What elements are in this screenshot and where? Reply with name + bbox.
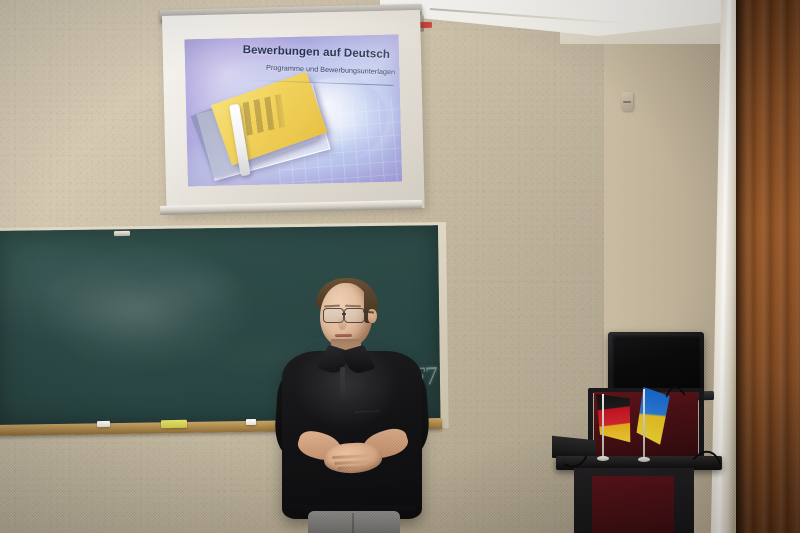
podium-front-panel (592, 476, 674, 533)
flag-pole (643, 389, 645, 459)
mouth (335, 334, 352, 337)
chalk-piece[interactable] (246, 419, 256, 425)
photograph-lecture-room: Bewerbungen auf Deutsch Programme und Be… (0, 0, 800, 533)
flag-base (638, 457, 650, 462)
shirt-placket (340, 367, 345, 405)
projected-slide: Bewerbungen auf Deutsch Programme und Be… (185, 34, 402, 186)
board-eraser-sponge[interactable] (161, 420, 187, 428)
nose (338, 316, 347, 330)
laptop-screen[interactable] (612, 335, 700, 390)
finger (334, 460, 370, 465)
projection-screen-surface: Bewerbungen auf Deutsch Programme und Be… (162, 10, 425, 214)
wall-sensor-slot (623, 101, 631, 103)
finger (337, 465, 367, 470)
screen-housing-label (419, 27, 441, 34)
podium-stand (556, 330, 732, 533)
flag-germany-cloth (595, 390, 635, 446)
chalk-piece[interactable] (97, 421, 110, 427)
finger (332, 454, 372, 459)
glasses-bridge (342, 313, 346, 315)
flag-germany (598, 392, 636, 462)
presenter (268, 283, 438, 533)
trousers (308, 511, 400, 533)
trouser-seam (352, 513, 354, 533)
curtain-shadow (736, 0, 750, 533)
shirt-pocket (353, 410, 380, 432)
blackboard-top-clip (114, 231, 130, 236)
flag-pole (602, 394, 604, 458)
glasses-lens-right (344, 308, 365, 323)
flag-base (597, 456, 609, 461)
